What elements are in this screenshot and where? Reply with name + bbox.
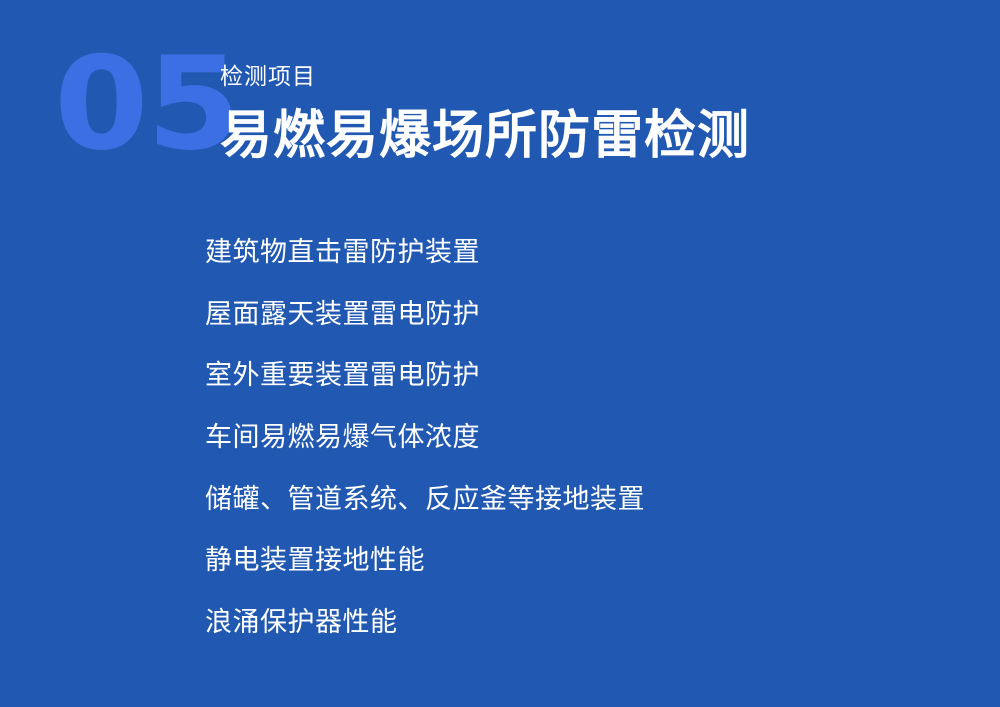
- list-item: 静电装置接地性能: [205, 546, 945, 576]
- list-item: 室外重要装置雷电防护: [205, 361, 945, 391]
- list-item: 车间易燃易爆气体浓度: [205, 423, 945, 453]
- eyebrow-label: 检测项目: [220, 62, 940, 92]
- list-item: 浪涌保护器性能: [205, 608, 945, 638]
- list-item: 建筑物直击雷防护装置: [205, 238, 945, 268]
- list-item: 储罐、管道系统、反应釜等接地装置: [205, 485, 945, 515]
- slide-root: 05 检测项目 易燃易爆场所防雷检测 建筑物直击雷防护装置 屋面露天装置雷电防护…: [0, 0, 1000, 707]
- section-number: 05: [54, 40, 239, 169]
- list-item: 屋面露天装置雷电防护: [205, 300, 945, 330]
- inspection-item-list: 建筑物直击雷防护装置 屋面露天装置雷电防护 室外重要装置雷电防护 车间易燃易爆气…: [205, 238, 945, 638]
- slide-header: 检测项目 易燃易爆场所防雷检测: [220, 62, 940, 164]
- page-title: 易燃易爆场所防雷检测: [220, 108, 940, 164]
